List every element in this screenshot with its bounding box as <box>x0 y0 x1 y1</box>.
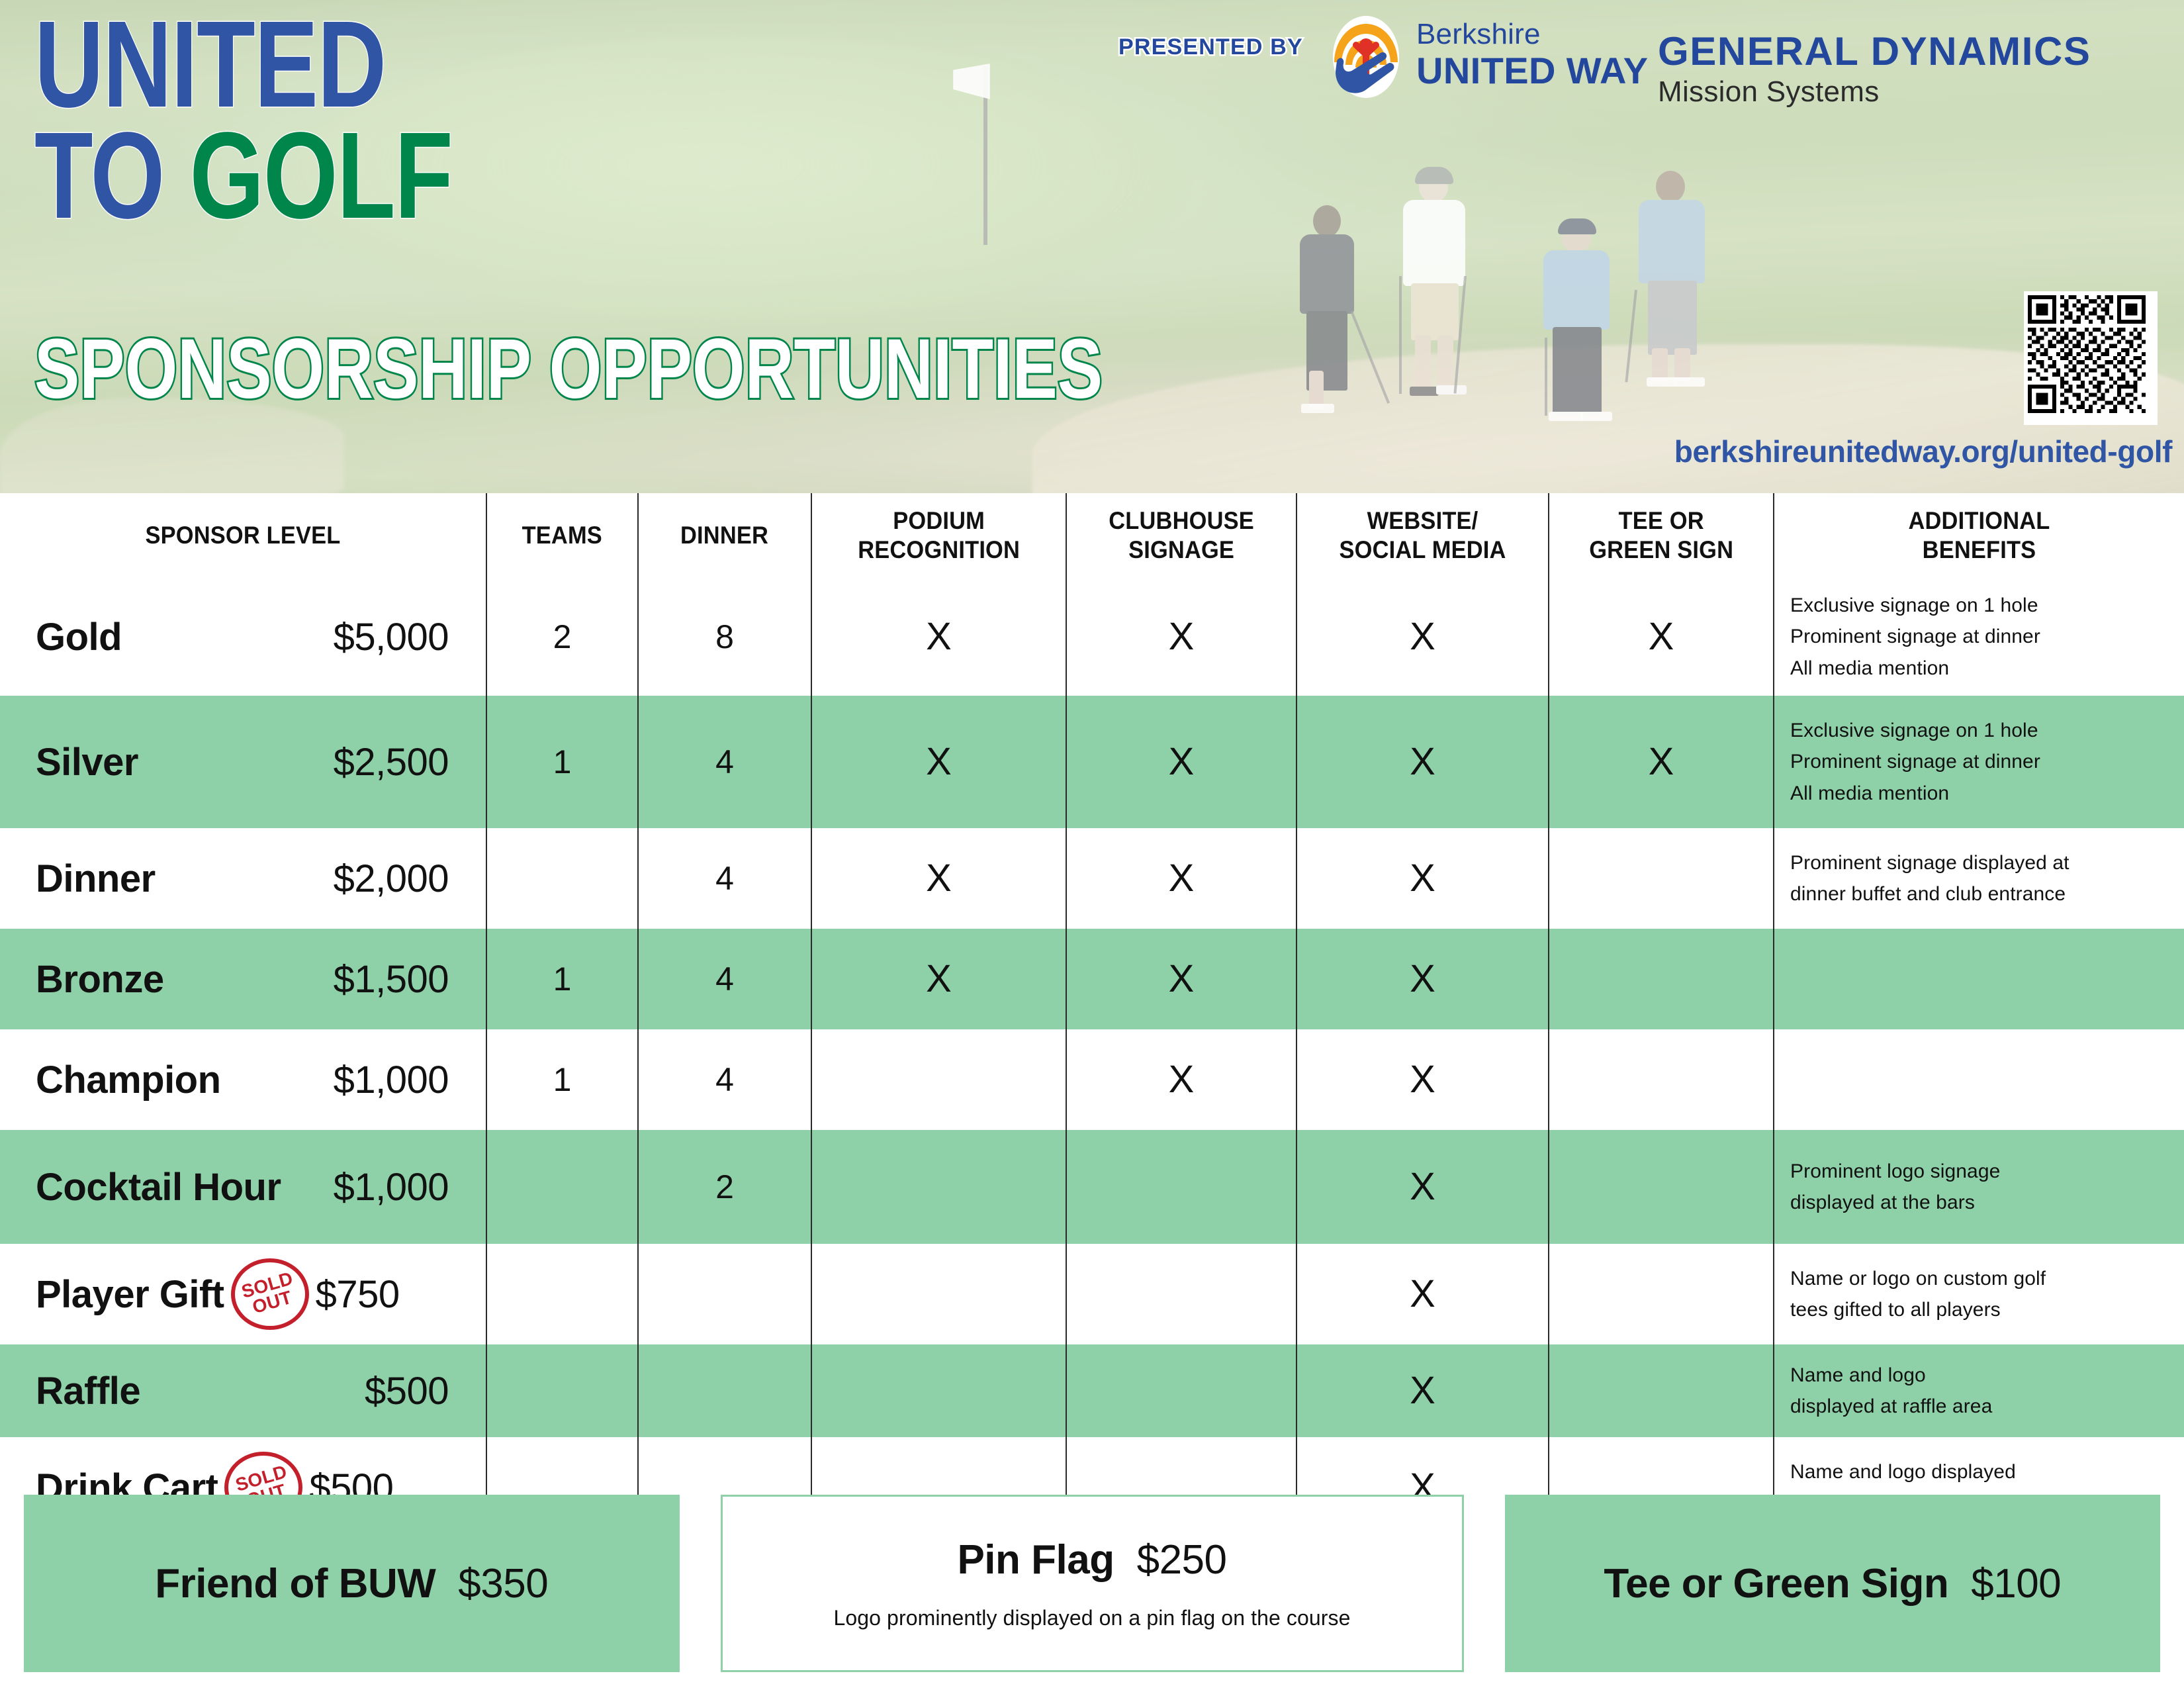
sponsor-level-price: $2,500 <box>334 740 449 784</box>
cell-additional-benefits: Prominent logo signagedisplayed at the b… <box>1774 1130 2184 1244</box>
sponsor-level-name: Champion <box>0 1058 221 1102</box>
cell-podium-recognition <box>812 1029 1067 1130</box>
benefit-line: All media mention <box>1790 778 2040 809</box>
header-line-2: SIGNAGE <box>1109 536 1254 565</box>
count-value: 4 <box>715 862 734 895</box>
benefit-line: Name and logo displayed <box>1790 1456 2016 1487</box>
cell-clubhouse-signage: X <box>1067 1029 1297 1130</box>
sponsorship-table: SPONSOR LEVEL TEAMS DINNER PODIUM RECOGN… <box>0 493 2184 1538</box>
page-subtitle: SPONSORSHIP OPPORTUNITIES <box>34 331 1103 407</box>
title-golf: GOLF <box>189 107 452 244</box>
header-text: DINNER <box>680 521 768 550</box>
sponsor-level-name: Silver <box>0 740 138 784</box>
check-mark: X <box>1649 743 1674 781</box>
sponsor-level-name: Cocktail Hour <box>0 1165 281 1209</box>
cell-clubhouse-signage: X <box>1067 929 1297 1029</box>
benefit-line: Prominent logo signage <box>1790 1156 2000 1187</box>
benefit-line: All media mention <box>1790 653 2040 684</box>
cell-dinner <box>639 1244 812 1344</box>
header-line-2: GREEN SIGN <box>1589 536 1733 565</box>
sponsor-level-wrap: Gold$5,000 <box>0 615 486 659</box>
column-header-additional-benefits: ADDITIONAL BENEFITS <box>1774 493 2184 578</box>
cell-additional-benefits: Exclusive signage on 1 holeProminent sig… <box>1774 696 2184 828</box>
count-value: 4 <box>715 1063 734 1096</box>
check-mark: X <box>926 618 952 656</box>
header-line-1: ADDITIONAL <box>1789 506 2170 536</box>
footer-box-pin-flag[interactable]: Pin Flag $250 Logo prominently displayed… <box>721 1495 1464 1672</box>
united-way-name: UNITED WAY <box>1416 52 1648 91</box>
cell-dinner: 8 <box>639 578 812 696</box>
cell-podium-recognition <box>812 1244 1067 1344</box>
cell-tee-or-green-sign <box>1549 1029 1774 1130</box>
sponsor-level-price: $750 <box>316 1272 400 1317</box>
cell-sponsor-level: Cocktail Hour$1,000 <box>0 1130 487 1244</box>
cell-tee-or-green-sign <box>1549 1344 1774 1437</box>
cell-clubhouse-signage: X <box>1067 828 1297 929</box>
table-row: Bronze$1,50014XXX <box>0 929 2184 1029</box>
check-mark: X <box>1649 618 1674 656</box>
sponsor-level-price: $500 <box>365 1369 449 1413</box>
check-mark: X <box>926 859 952 898</box>
cell-additional-benefits: Exclusive signage on 1 holeProminent sig… <box>1774 578 2184 696</box>
check-mark: X <box>926 960 952 998</box>
benefit-line: Prominent signage displayed at <box>1790 847 2070 878</box>
check-mark: X <box>1169 743 1195 781</box>
cell-website-social-media: X <box>1297 1244 1549 1344</box>
sold-out-badge: SOLDOUT <box>231 1258 309 1330</box>
cell-dinner: 4 <box>639 1029 812 1130</box>
table-row: Silver$2,50014XXXXExclusive signage on 1… <box>0 696 2184 828</box>
table-header-row: SPONSOR LEVEL TEAMS DINNER PODIUM RECOGN… <box>0 493 2184 578</box>
cell-podium-recognition: X <box>812 929 1067 1029</box>
sold-out-text: SOLDOUT <box>240 1270 300 1319</box>
presented-by-label: PRESENTED BY <box>1118 34 1303 60</box>
cell-additional-benefits: Name or logo on custom golftees gifted t… <box>1774 1244 2184 1344</box>
benefit-line: Name or logo on custom golf <box>1790 1263 2046 1294</box>
count-value: 2 <box>553 620 572 653</box>
united-way-wordmark: Berkshire UNITED WAY <box>1416 20 1648 91</box>
header-line-1: CLUBHOUSE <box>1109 506 1254 536</box>
sponsor-level-price: $2,000 <box>334 857 449 901</box>
cell-sponsor-level: Gold$5,000 <box>0 578 487 696</box>
footer-row: Tee or Green Sign $100 <box>1604 1560 2061 1607</box>
column-header-tee-or-green-sign: TEE OR GREEN SIGN <box>1549 493 1774 578</box>
check-mark: X <box>1169 960 1195 998</box>
cell-podium-recognition: X <box>812 696 1067 828</box>
footer-box-tee-or-green-sign[interactable]: Tee or Green Sign $100 <box>1505 1495 2161 1672</box>
cell-tee-or-green-sign: X <box>1549 578 1774 696</box>
cell-podium-recognition: X <box>812 828 1067 929</box>
cell-tee-or-green-sign <box>1549 1130 1774 1244</box>
cell-podium-recognition: X <box>812 578 1067 696</box>
cell-tee-or-green-sign <box>1549 1244 1774 1344</box>
cell-tee-or-green-sign <box>1549 929 1774 1029</box>
check-mark: X <box>1410 859 1435 898</box>
cell-teams: 1 <box>487 929 639 1029</box>
cell-additional-benefits: Prominent signage displayed atdinner buf… <box>1774 828 2184 929</box>
check-mark: X <box>1410 960 1435 998</box>
footer-level-name: Tee or Green Sign <box>1604 1560 1948 1607</box>
cell-teams: 2 <box>487 578 639 696</box>
cell-sponsor-level: Silver$2,500 <box>0 696 487 828</box>
cell-tee-or-green-sign <box>1549 828 1774 929</box>
cell-clubhouse-signage <box>1067 1344 1297 1437</box>
column-header-teams: TEAMS <box>487 493 639 578</box>
general-dynamics-name: GENERAL DYNAMICS <box>1658 32 2091 71</box>
cell-sponsor-level: Bronze$1,500 <box>0 929 487 1029</box>
count-value: 8 <box>715 620 734 653</box>
cell-additional-benefits: Name and logodisplayed at raffle area <box>1774 1344 2184 1437</box>
sponsor-level-name: Raffle <box>0 1369 140 1413</box>
table-body: Gold$5,00028XXXXExclusive signage on 1 h… <box>0 578 2184 1538</box>
benefit-line: displayed at the bars <box>1790 1187 2000 1218</box>
benefit-line: tees gifted to all players <box>1790 1294 2046 1325</box>
cell-teams: 1 <box>487 1029 639 1130</box>
header-text: TEAMS <box>522 521 602 550</box>
hero-banner: UNITED TO GOLF SPONSORSHIP OPPORTUNITIES… <box>0 0 2184 493</box>
cell-podium-recognition <box>812 1130 1067 1244</box>
footer-row: Pin Flag $250 <box>957 1536 1226 1583</box>
header-line-1: PODIUM <box>858 506 1020 536</box>
check-mark: X <box>1410 1060 1435 1099</box>
page-title-line2: TO GOLF <box>34 126 452 227</box>
cell-sponsor-level: Raffle$500 <box>0 1344 487 1437</box>
header-line-1: TEE OR <box>1589 506 1733 536</box>
sponsor-level-price: $1,000 <box>334 1165 449 1209</box>
table-row: Cocktail Hour$1,0002XProminent logo sign… <box>0 1130 2184 1244</box>
sponsor-level-wrap: Champion$1,000 <box>0 1058 486 1102</box>
table-row: Player GiftSOLDOUT$750XName or logo on c… <box>0 1244 2184 1344</box>
cell-clubhouse-signage <box>1067 1244 1297 1344</box>
cell-sponsor-level: Champion$1,000 <box>0 1029 487 1130</box>
cell-website-social-media: X <box>1297 578 1549 696</box>
cell-teams <box>487 1244 639 1344</box>
cell-podium-recognition <box>812 1344 1067 1437</box>
cell-dinner <box>639 1344 812 1437</box>
footer-level-name: Friend of BUW <box>155 1560 435 1607</box>
benefit-list: Exclusive signage on 1 holeProminent sig… <box>1790 590 2040 684</box>
cell-clubhouse-signage <box>1067 1130 1297 1244</box>
header-line-2: SOCIAL MEDIA <box>1339 536 1506 565</box>
column-header-website-social-media: WEBSITE/ SOCIAL MEDIA <box>1297 493 1549 578</box>
page-title-line1: UNITED <box>34 15 386 116</box>
benefit-list: Name and logodisplayed at raffle area <box>1790 1360 1992 1423</box>
benefit-line: Prominent signage at dinner <box>1790 621 2040 652</box>
header-text: ADDITIONAL BENEFITS <box>1789 506 2170 564</box>
cell-website-social-media: X <box>1297 1344 1549 1437</box>
footer-level-name: Pin Flag <box>957 1536 1114 1583</box>
count-value: 4 <box>715 745 734 778</box>
sponsor-level-name: Bronze <box>0 957 164 1002</box>
sponsor-level-price: $1,500 <box>334 957 449 1002</box>
table-row: Champion$1,00014XX <box>0 1029 2184 1130</box>
footer-level-price: $100 <box>1971 1560 2061 1607</box>
cell-website-social-media: X <box>1297 1029 1549 1130</box>
benefit-list: Prominent signage displayed atdinner buf… <box>1790 847 2070 910</box>
table-row: Dinner$2,0004XXXProminent signage displa… <box>0 828 2184 929</box>
count-value: 1 <box>553 962 572 996</box>
title-to: TO <box>34 107 189 244</box>
cell-website-social-media: X <box>1297 929 1549 1029</box>
cell-dinner: 2 <box>639 1130 812 1244</box>
cell-dinner: 4 <box>639 696 812 828</box>
sponsor-level-wrap: Bronze$1,500 <box>0 957 486 1002</box>
united-way-berkshire: Berkshire <box>1416 20 1648 49</box>
benefit-line: Name and logo <box>1790 1360 1992 1391</box>
benefit-line: dinner buffet and club entrance <box>1790 878 2070 910</box>
benefit-line: Prominent signage at dinner <box>1790 746 2040 777</box>
header-line-2: BENEFITS <box>1789 536 2170 565</box>
cell-sponsor-level: Player GiftSOLDOUT$750 <box>0 1244 487 1344</box>
check-mark: X <box>1169 1060 1195 1099</box>
footer-row: Friend of BUW $350 <box>155 1560 548 1607</box>
benefit-list: Name or logo on custom golftees gifted t… <box>1790 1263 2046 1326</box>
column-header-clubhouse-signage: CLUBHOUSE SIGNAGE <box>1067 493 1297 578</box>
sponsor-level-wrap: Silver$2,500 <box>0 740 486 784</box>
benefit-line: displayed at raffle area <box>1790 1391 1992 1422</box>
count-value: 2 <box>715 1170 734 1203</box>
benefit-list: Prominent logo signagedisplayed at the b… <box>1790 1156 2000 1219</box>
check-mark: X <box>1410 618 1435 656</box>
sponsor-level-price: $1,000 <box>334 1058 449 1102</box>
header-text: TEE OR GREEN SIGN <box>1589 506 1733 564</box>
count-value: 1 <box>553 1063 572 1096</box>
footer-box-friend-of-buw[interactable]: Friend of BUW $350 <box>24 1495 680 1672</box>
website-url[interactable]: berkshireunitedway.org/united-golf <box>1674 434 2172 469</box>
benefit-list: Exclusive signage on 1 holeProminent sig… <box>1790 715 2040 809</box>
general-dynamics-division: Mission Systems <box>1658 76 2091 108</box>
cell-clubhouse-signage: X <box>1067 578 1297 696</box>
cell-dinner: 4 <box>639 828 812 929</box>
sponsor-level-wrap: Player GiftSOLDOUT$750 <box>0 1258 486 1330</box>
check-mark: X <box>926 743 952 781</box>
header-text: SPONSOR LEVEL <box>17 521 469 550</box>
united-way-logo-icon <box>1324 15 1408 99</box>
cell-teams <box>487 1344 639 1437</box>
cell-tee-or-green-sign: X <box>1549 696 1774 828</box>
benefit-line: Exclusive signage on 1 hole <box>1790 715 2040 746</box>
count-value: 1 <box>553 745 572 778</box>
footer-level-price: $350 <box>458 1560 548 1607</box>
footer-level-description: Logo prominently displayed on a pin flag… <box>833 1606 1350 1630</box>
benefit-line: Exclusive signage on 1 hole <box>1790 590 2040 621</box>
sponsor-level-wrap: Dinner$2,000 <box>0 857 486 901</box>
cell-teams <box>487 1130 639 1244</box>
check-mark: X <box>1169 859 1195 898</box>
cell-website-social-media: X <box>1297 828 1549 929</box>
header-line-1: WEBSITE/ <box>1339 506 1506 536</box>
check-mark: X <box>1410 1168 1435 1206</box>
sponsor-level-name: Player Gift <box>0 1272 224 1317</box>
sponsorship-flyer: UNITED TO GOLF SPONSORSHIP OPPORTUNITIES… <box>0 0 2184 1688</box>
header-text: PODIUM RECOGNITION <box>858 506 1020 564</box>
cell-teams <box>487 828 639 929</box>
count-value: 4 <box>715 962 734 996</box>
check-mark: X <box>1410 1275 1435 1313</box>
cell-additional-benefits <box>1774 929 2184 1029</box>
table-row: Raffle$500XName and logodisplayed at raf… <box>0 1344 2184 1437</box>
check-mark: X <box>1169 618 1195 656</box>
check-mark: X <box>1410 743 1435 781</box>
table-row: Gold$5,00028XXXXExclusive signage on 1 h… <box>0 578 2184 696</box>
general-dynamics-logo: GENERAL DYNAMICS Mission Systems <box>1658 32 2091 108</box>
cell-sponsor-level: Dinner$2,000 <box>0 828 487 929</box>
column-header-podium-recognition: PODIUM RECOGNITION <box>812 493 1067 578</box>
sponsor-level-price: $5,000 <box>334 615 449 659</box>
header-text: CLUBHOUSE SIGNAGE <box>1109 506 1254 564</box>
header-text: WEBSITE/ SOCIAL MEDIA <box>1339 506 1506 564</box>
cell-clubhouse-signage: X <box>1067 696 1297 828</box>
sponsor-level-name: Gold <box>0 615 122 659</box>
qr-code-icon[interactable] <box>2024 291 2158 425</box>
cell-website-social-media: X <box>1297 1130 1549 1244</box>
cell-dinner: 4 <box>639 929 812 1029</box>
column-header-sponsor-level: SPONSOR LEVEL <box>0 493 487 578</box>
sponsor-level-wrap: Cocktail Hour$1,000 <box>0 1165 486 1209</box>
column-header-dinner: DINNER <box>639 493 812 578</box>
header-line-2: RECOGNITION <box>858 536 1020 565</box>
cell-teams: 1 <box>487 696 639 828</box>
sponsor-level-wrap: Raffle$500 <box>0 1369 486 1413</box>
cell-website-social-media: X <box>1297 696 1549 828</box>
sponsor-level-name: Dinner <box>0 857 156 901</box>
check-mark: X <box>1410 1372 1435 1410</box>
footer-level-price: $250 <box>1137 1536 1227 1583</box>
footer-sponsor-boxes: Friend of BUW $350 Pin Flag $250 Logo pr… <box>0 1495 2184 1672</box>
cell-additional-benefits <box>1774 1029 2184 1130</box>
